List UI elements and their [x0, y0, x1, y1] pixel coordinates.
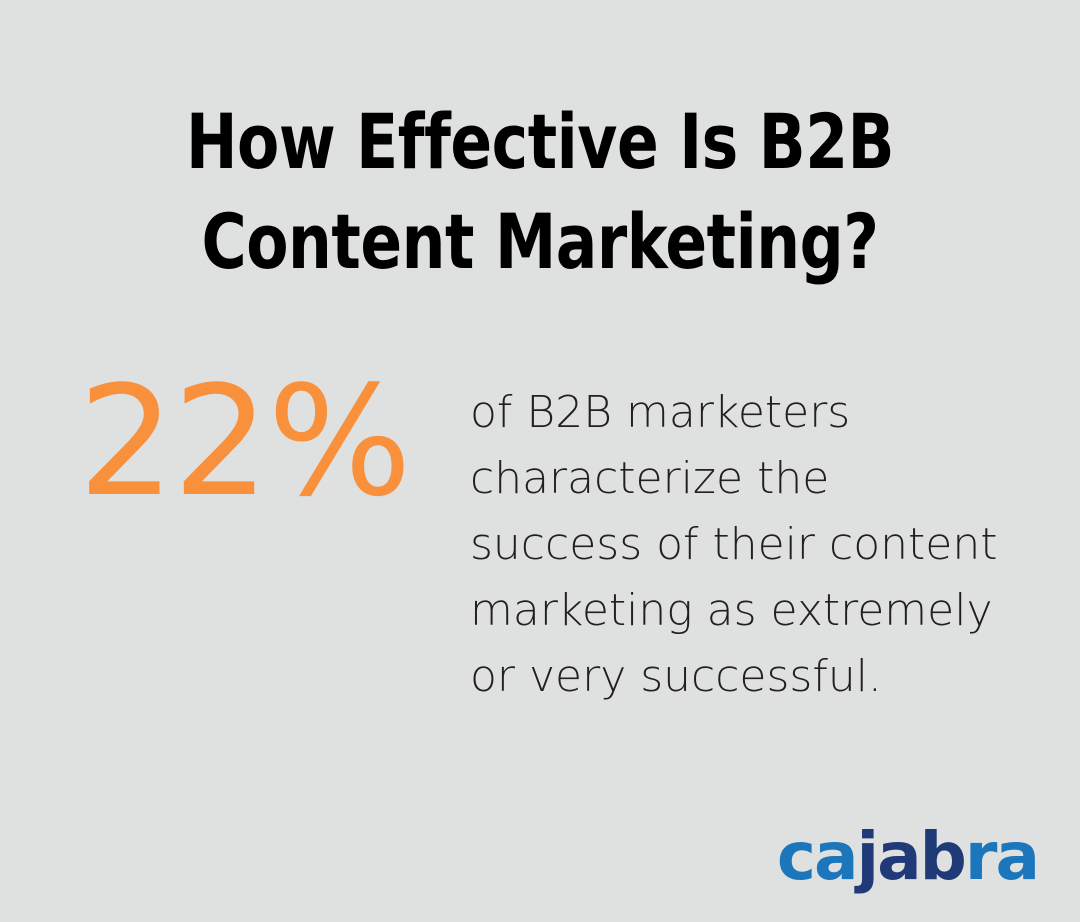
statistic-row: 22% of B2B marketers characterize the su… [0, 372, 1080, 712]
infographic-canvas: How Effective Is B2B Content Marketing? … [0, 0, 1080, 922]
logo-segment-jab: jab [857, 818, 965, 895]
page-title: How Effective Is B2B Content Marketing? [0, 92, 1080, 292]
logo-segment-ca: ca [777, 818, 857, 895]
statistic-description: of B2B marketers characterize the succes… [470, 372, 1000, 710]
cajabra-logo: cajabra [777, 824, 1038, 890]
statistic-figure-container: 22% [0, 372, 470, 512]
title-line-2: Content Marketing? [108, 192, 972, 292]
statistic-percentage: 22% [78, 372, 410, 512]
title-line-1: How Effective Is B2B [108, 92, 972, 192]
logo-segment-ra: ra [965, 818, 1038, 895]
